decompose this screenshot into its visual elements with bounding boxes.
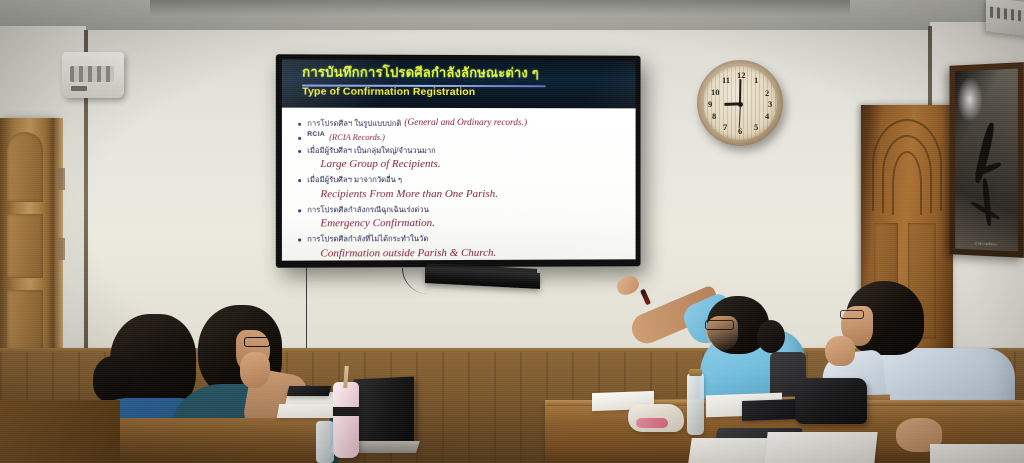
glasses-icon	[705, 320, 734, 330]
bullet-dot-icon	[298, 179, 301, 182]
ceiling-shadow	[150, 0, 850, 16]
meeting-room-photo: ภาพวาดศิลปะ 12 1 2 3 4 5 6 7 8 9 10 11	[0, 0, 1024, 463]
door-panel	[7, 290, 43, 356]
wall-clock: 12 1 2 3 4 5 6 7 8 9 10 11	[697, 60, 783, 146]
attendee-left-1-hair	[93, 356, 133, 402]
folder	[287, 386, 331, 396]
wooden-door-left[interactable]	[0, 118, 54, 366]
clock-num-4: 4	[765, 111, 769, 121]
clock-num-7: 7	[723, 122, 727, 132]
ac-vent	[70, 66, 114, 82]
slide-bullet: การโปรดศีลฯ ในรูปแบบปกติ (General and Or…	[298, 117, 630, 131]
clock-num-10: 10	[711, 87, 720, 97]
clock-num-2: 2	[765, 88, 769, 98]
slide-bullet: RCIA (RCIA Records.)	[298, 130, 630, 143]
attendee-right-hand	[825, 336, 855, 366]
water-bottle	[316, 421, 334, 463]
door-panel	[7, 214, 43, 278]
bullet-english-sub: Large Group of Recipients.	[320, 157, 629, 172]
bullet-english-sub: Emergency Confirmation.	[320, 216, 629, 232]
door-panel	[7, 132, 43, 202]
slide-header: การบันทึกการโปรดศีลกำลังลักษณะต่าง ๆ Typ…	[282, 59, 636, 108]
slide-bullet: การโปรดศีลกำลังกรณีฉุกเฉินเร่งด่วน	[298, 202, 630, 216]
bottle-cap	[689, 369, 702, 376]
bullet-english: (General and Ordinary records.)	[404, 117, 527, 130]
slide-body: การโปรดศีลฯ ในรูปแบบปกติ (General and Or…	[282, 108, 636, 261]
air-conditioner-left-icon	[62, 52, 124, 98]
door-hinge	[58, 168, 65, 190]
bullet-english-sub: Recipients From More than One Parish.	[320, 186, 629, 201]
bullet-dot-icon	[298, 209, 301, 212]
folder	[742, 399, 798, 421]
black-bag	[795, 378, 867, 424]
bullet-dot-icon	[298, 238, 301, 241]
bullet-thai: RCIA	[307, 130, 325, 137]
clock-num-3: 3	[768, 99, 772, 109]
tumbler-band	[333, 407, 359, 416]
artwork-caption: ภาพวาดศิลปะ	[955, 241, 1018, 249]
clock-num-8: 8	[712, 111, 716, 121]
slide-title-thai: การบันทึกการโปรดศีลกำลังลักษณะต่าง ๆ	[302, 64, 635, 81]
laptop[interactable]	[354, 377, 414, 448]
door-arch-inner	[892, 151, 922, 215]
slide-bullet: เมื่อมีผู้รับศีลฯ มาจากวัดอื่น ๆ	[298, 173, 630, 187]
slide-bullet: การโปรดศีลกำลังที่ไม่ได้กระทำในวัด	[298, 232, 630, 247]
water-bottle	[687, 373, 704, 435]
framed-picture: ภาพวาดศิลปะ	[950, 62, 1024, 258]
documents	[688, 438, 776, 463]
slide-screen: การบันทึกการโปรดศีลกำลังลักษณะต่าง ๆ Typ…	[282, 59, 636, 260]
glasses-icon	[840, 310, 864, 319]
bullet-dot-icon	[298, 136, 301, 139]
bullet-english: (RCIA Records.)	[329, 130, 385, 143]
pink-tumbler	[333, 382, 359, 458]
documents	[277, 404, 341, 418]
bullet-thai: การโปรดศีลกำลังกรณีฉุกเฉินเร่งด่วน	[307, 203, 429, 217]
air-conditioner-right-icon	[986, 0, 1024, 37]
slide-title-english: Type of Confirmation Registration	[302, 86, 635, 99]
slide-bullet: เมื่อมีผู้รับศีลฯ เป็นกลุ่มใหญ่/จำนวนมาก	[298, 143, 630, 157]
bullet-dot-icon	[298, 149, 301, 152]
bullet-thai: เมื่อมีผู้รับศีลฯ มาจากวัดอื่น ๆ	[307, 173, 402, 187]
clock-num-5: 5	[754, 122, 758, 132]
clock-num-11: 11	[722, 75, 730, 85]
snack-contents	[636, 418, 668, 428]
ac-vent	[990, 7, 1024, 23]
artwork: ภาพวาดศิลปะ	[955, 69, 1018, 252]
door-hinge	[58, 238, 65, 260]
clock-minute-hand	[739, 79, 742, 104]
bullet-thai: การโปรดศีลฯ ในรูปแบบปกติ	[307, 117, 401, 131]
ac-indicator	[71, 86, 87, 91]
clock-num-1: 1	[754, 75, 758, 85]
glasses-icon	[244, 337, 270, 347]
clock-second-hand	[739, 104, 741, 128]
attendee-left-2-hand	[240, 352, 270, 388]
clock-face: 12 1 2 3 4 5 6 7 8 9 10 11	[703, 66, 777, 140]
presentation-display[interactable]: การบันทึกการโปรดศีลกำลังลักษณะต่าง ๆ Typ…	[276, 54, 641, 268]
documents	[764, 432, 877, 463]
bullet-thai: เมื่อมีผู้รับศีลฯ เป็นกลุ่มใหญ่/จำนวนมาก	[307, 143, 436, 157]
table-left-side	[0, 400, 120, 463]
bullet-english-sub: Confirmation outside Parish & Church.	[320, 245, 629, 261]
clock-num-9: 9	[708, 99, 712, 109]
bullet-thai: การโปรดศีลกำลังที่ไม่ได้กระทำในวัด	[307, 232, 428, 246]
clock-center-pin	[738, 102, 743, 107]
bullet-dot-icon	[298, 123, 301, 126]
documents	[930, 444, 1024, 463]
presenter-hair-bun	[757, 320, 785, 353]
